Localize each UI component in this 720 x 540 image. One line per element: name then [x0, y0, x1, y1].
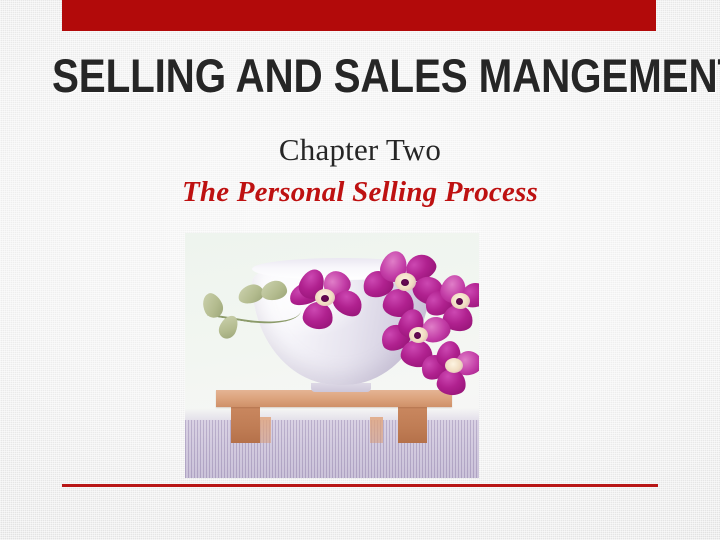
presentation-slide: SELLING AND SALES MANGEMENT Chapter Two … [0, 0, 720, 540]
stand-leg-right [398, 407, 427, 443]
slide-title: SELLING AND SALES MANGEMENT [52, 50, 585, 102]
chapter-label: Chapter Two [60, 130, 660, 170]
wooden-stand-top [216, 390, 452, 407]
stand-inner-support-right [370, 417, 383, 443]
orchid-blossom [289, 269, 363, 331]
topic-label: The Personal Selling Process [60, 170, 660, 214]
top-red-banner [62, 0, 656, 31]
orchid-core [456, 298, 463, 305]
stand-leg-left [231, 407, 260, 443]
orchid-blossom [421, 341, 479, 397]
slide-subtitle-block: Chapter Two The Personal Selling Process [60, 130, 660, 214]
orchid-core [321, 295, 329, 302]
orchid-bowl-photo [185, 233, 479, 478]
orchid-throat [445, 358, 463, 373]
woven-mat [185, 420, 479, 478]
bottom-red-rule [62, 484, 658, 487]
orchid-core [414, 332, 421, 339]
orchid-core [401, 279, 409, 286]
